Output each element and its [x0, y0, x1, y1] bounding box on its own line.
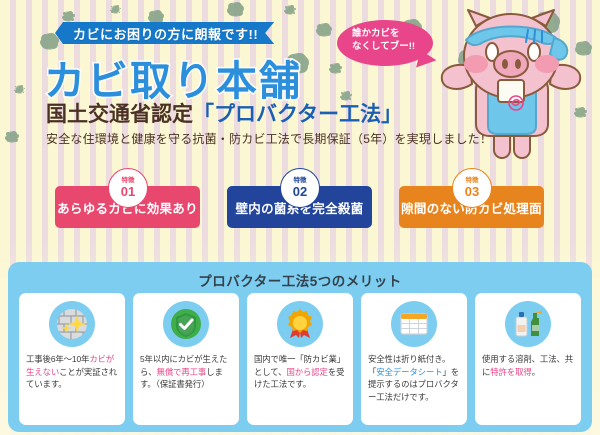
- merit-card[interactable]: 工事後6年〜10年カビが生えないことが実証されています。: [19, 293, 125, 425]
- merit-text-highlight: 国から認定: [286, 367, 327, 377]
- subtitle: 国土交通省認定「プロバクター工法」: [46, 98, 402, 128]
- lead-text: 安全な住環境と健康を守る抗菌・防カビ工法で長期保証（5年）を実現しました！: [46, 130, 492, 147]
- merit-text-part: 工事後6年〜10年: [26, 354, 89, 364]
- feature-badge-number-02: 02: [293, 185, 307, 198]
- shield-check-icon: [163, 301, 209, 347]
- feature-number-badge-02: 特徴 02: [280, 168, 320, 208]
- merit-card[interactable]: 使用する溶剤、工法、共に特許を取得。: [475, 293, 581, 425]
- subtitle-prefix: 国土交通省認定: [46, 103, 193, 126]
- merit-text-part: 。: [532, 367, 540, 377]
- feature-badge-number-01: 01: [121, 185, 135, 198]
- subtitle-highlight: 「プロバクター工法」: [193, 103, 402, 126]
- merit-card-text: 5年以内にカビが生えたら、無償で再工事します。（保証書発行）: [140, 353, 233, 391]
- feature-badge-number-03: 03: [465, 185, 479, 198]
- data-sheet-icon: [391, 301, 437, 347]
- announcement-ribbon: カビにお困りの方に朗報です!!: [55, 22, 274, 44]
- speech-bubble-line-1: 誰かカビを: [352, 27, 432, 40]
- merit-text-highlight: 安全データシート: [376, 367, 442, 377]
- merit-card[interactable]: 国内で唯一「防カビ業」として、国から認定を受けた工法です。: [247, 293, 353, 425]
- merit-text-highlight: 特許を取得: [490, 367, 531, 377]
- speech-bubble-text: 誰かカビを なくしてブー!!: [352, 27, 432, 53]
- merits-panel: プロバクター工法5つのメリット: [8, 262, 592, 432]
- feature-number-badge-03: 特徴 03: [452, 168, 492, 208]
- feature-badges: あらゆるカビに効果あり 特徴 01 壁内の菌糸を完全殺菌 特徴 02 隙間のない…: [0, 168, 600, 240]
- medal-ribbon-icon: [277, 301, 323, 347]
- brick-wall-sparkle-icon: [49, 301, 95, 347]
- merit-card-list: 工事後6年〜10年カビが生えないことが実証されています。 5年以内にカビが生えた…: [19, 293, 581, 425]
- ribbon-label: カビにお困りの方に朗報です!!: [73, 24, 258, 43]
- speech-bubble-line-2: なくしてブー!!: [352, 40, 432, 53]
- promo-page: カビにお困りの方に朗報です!! カビ取り本舗 国土交通省認定「プロバクター工法」…: [0, 0, 600, 435]
- merit-card-text: 安全性は折り紙付き。「安全データシート」を提示するのはプロバクター工法だけです。: [368, 353, 461, 403]
- merit-card-text: 使用する溶剤、工法、共に特許を取得。: [482, 353, 575, 378]
- merit-card[interactable]: 5年以内にカビが生えたら、無償で再工事します。（保証書発行）: [133, 293, 239, 425]
- merit-card[interactable]: 安全性は折り紙付き。「安全データシート」を提示するのはプロバクター工法だけです。: [361, 293, 467, 425]
- merit-text-highlight: 無償で再工事: [157, 367, 207, 377]
- pig-mascot-icon: [430, 4, 595, 164]
- merit-card-text: 工事後6年〜10年カビが生えないことが実証されています。: [26, 353, 119, 391]
- feature-number-badge-01: 特徴 01: [108, 168, 148, 208]
- merits-title: プロバクター工法5つのメリット: [8, 270, 592, 290]
- detergent-spray-bottle-icon: [505, 301, 551, 347]
- merit-card-text: 国内で唯一「防カビ業」として、国から認定を受けた工法です。: [254, 353, 347, 391]
